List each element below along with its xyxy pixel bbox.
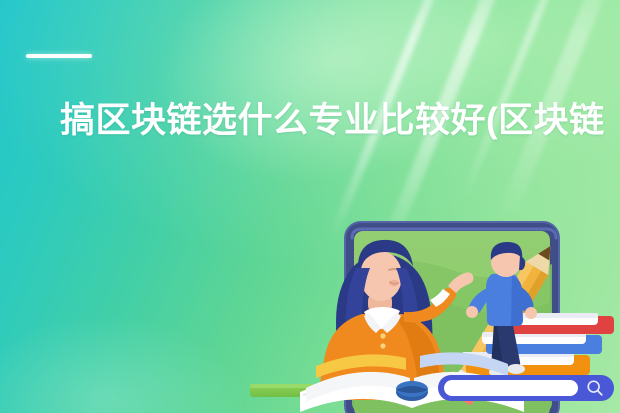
search-input[interactable] xyxy=(444,380,578,396)
search-icon[interactable] xyxy=(586,379,604,397)
promo-banner: 搞区块链选什么专业比较好(区块链 xyxy=(0,0,620,413)
study-illustration xyxy=(0,0,620,413)
search-bar[interactable] xyxy=(438,375,614,401)
orange-circle-accent xyxy=(342,309,414,381)
